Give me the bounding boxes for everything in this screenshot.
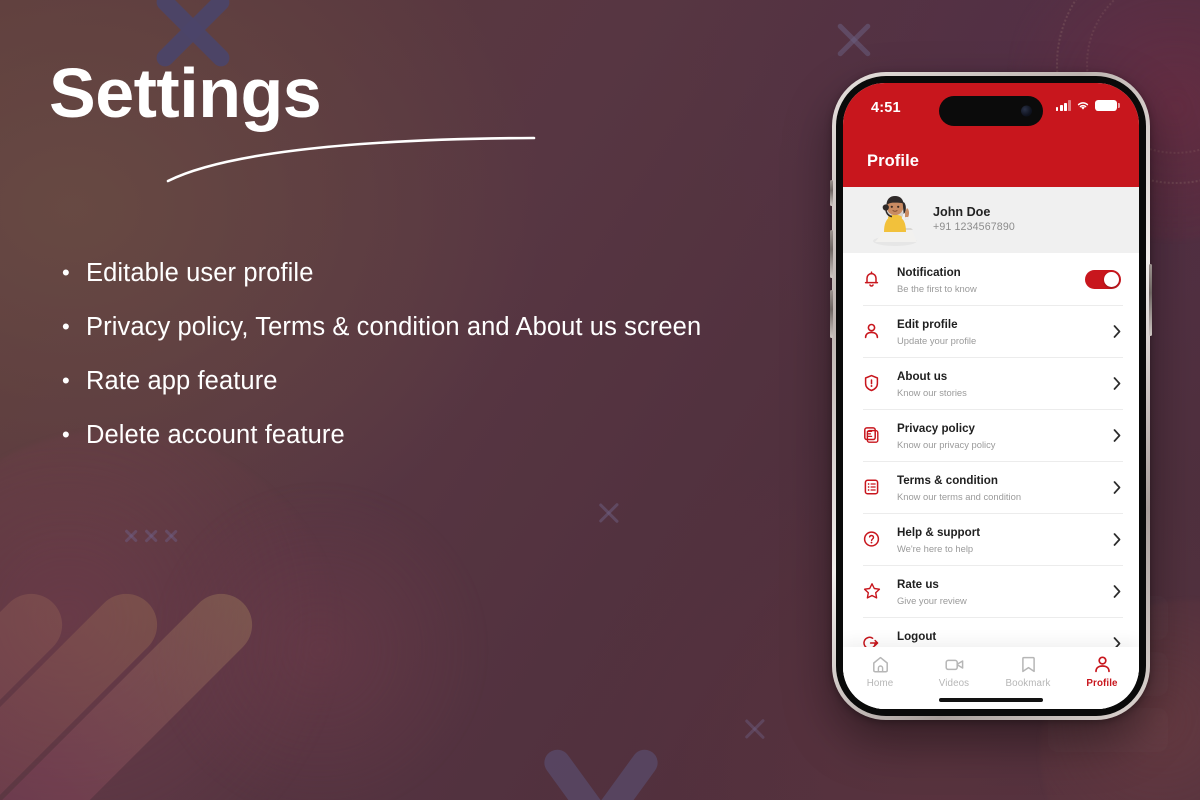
app-bar-title: Profile [867,152,919,171]
x-cross-icon [832,18,876,62]
settings-menu-list: Notification Be the first to know Edit p… [843,253,1139,709]
menu-item-title: Privacy policy [897,422,975,435]
shield-alert-icon [863,374,893,392]
menu-item-about-us[interactable]: About us Know our stories [843,357,1139,409]
chevron-right-icon [1105,585,1121,598]
star-icon [863,582,893,600]
nav-item-profile[interactable]: Profile [1065,655,1139,689]
bullet-marker: • [62,312,86,342]
menu-item-subtitle: We're here to help [897,542,1105,555]
chevron-right-icon [1105,377,1121,390]
document-stack-icon [863,426,893,444]
list-item-label: Delete account feature [86,420,345,450]
chevron-right-icon [1105,481,1121,494]
nav-item-home[interactable]: Home [843,655,917,689]
home-icon [871,655,890,674]
status-time: 4:51 [871,100,901,116]
volume-up-button[interactable] [830,230,833,278]
menu-item-title: Terms & condition [897,474,998,487]
person-icon [1093,655,1112,674]
person-icon [863,322,893,340]
video-icon [944,655,965,674]
list-document-icon [863,478,893,496]
chevron-right-icon [1105,325,1121,338]
nav-item-videos[interactable]: Videos [917,655,991,689]
bullet-marker: • [62,258,86,288]
profile-name: John Doe [933,205,990,219]
bullet-marker: • [62,420,86,450]
front-camera-icon [1021,106,1032,117]
menu-item-title: Help & support [897,526,980,539]
wifi-icon [1076,100,1090,111]
bottom-navigation-bar: Home Videos Bookmark Prof [843,647,1139,709]
cellular-bars-icon [1056,100,1071,111]
menu-item-text: Edit profile Update your profile [893,315,1105,347]
nav-item-label: Bookmark [1006,678,1051,689]
dynamic-island [939,96,1043,126]
slide-content: Settings • Editable user profile • Priva… [0,0,820,800]
nav-item-bookmark[interactable]: Bookmark [991,655,1065,689]
menu-item-text: Rate us Give your review [893,575,1105,607]
page-title: Settings [49,58,321,128]
status-indicators [1056,100,1117,111]
mute-switch-button[interactable] [830,180,833,206]
menu-item-subtitle: Know our stories [897,386,1105,399]
battery-icon [1095,100,1117,111]
question-circle-icon [863,530,893,548]
menu-item-subtitle: Know our privacy policy [897,438,1105,451]
bookmark-icon [1020,655,1037,674]
menu-item-text: Help & support We're here to help [893,523,1105,555]
status-bar: 4:51 [843,83,1139,141]
power-button[interactable] [1149,264,1152,336]
list-item: • Delete account feature [62,420,822,450]
list-item-label: Rate app feature [86,366,278,396]
phone-screen: 4:51 Profile [843,83,1139,709]
list-item: • Editable user profile [62,258,822,288]
list-item: • Privacy policy, Terms & condition and … [62,312,822,342]
phone-mockup: 4:51 Profile [832,72,1150,720]
menu-item-title: About us [897,370,947,383]
menu-item-title: Edit profile [897,318,958,331]
profile-phone: +91 1234567890 [933,221,1015,233]
title-underline-swoosh [160,125,540,187]
list-item-label: Privacy policy, Terms & condition and Ab… [86,312,701,342]
menu-item-terms-condition[interactable]: Terms & condition Know our terms and con… [843,461,1139,513]
feature-bullet-list: • Editable user profile • Privacy policy… [62,258,822,474]
user-avatar-illustration [865,190,923,248]
menu-item-edit-profile[interactable]: Edit profile Update your profile [843,305,1139,357]
chevron-right-icon [1105,533,1121,546]
volume-down-button[interactable] [830,290,833,338]
menu-item-title: Logout [897,630,936,643]
bullet-marker: • [62,366,86,396]
list-item-label: Editable user profile [86,258,313,288]
menu-item-text: Terms & condition Know our terms and con… [893,471,1105,503]
profile-card[interactable]: John Doe +91 1234567890 [843,187,1139,253]
menu-item-privacy-policy[interactable]: Privacy policy Know our privacy policy [843,409,1139,461]
menu-item-subtitle: Give your review [897,594,1105,607]
list-item: • Rate app feature [62,366,822,396]
menu-item-subtitle: Update your profile [897,334,1105,347]
menu-item-text: About us Know our stories [893,367,1105,399]
menu-item-title: Rate us [897,578,939,591]
menu-item-text: Privacy policy Know our privacy policy [893,419,1105,451]
menu-item-subtitle: Be the first to know [897,282,1085,295]
notification-toggle[interactable] [1085,270,1121,289]
nav-item-label: Home [867,678,894,689]
nav-item-label: Videos [939,678,969,689]
chevron-right-icon [1105,429,1121,442]
menu-item-title: Notification [897,266,961,279]
app-bar: Profile [843,141,1139,187]
menu-item-subtitle: Know our terms and condition [897,490,1105,503]
menu-item-rate-us[interactable]: Rate us Give your review [843,565,1139,617]
menu-item-notification[interactable]: Notification Be the first to know [843,253,1139,305]
home-indicator [939,698,1043,702]
menu-item-text: Notification Be the first to know [893,263,1085,295]
bell-icon [863,270,893,288]
menu-item-help-support[interactable]: Help & support We're here to help [843,513,1139,565]
nav-item-label: Profile [1086,678,1117,689]
